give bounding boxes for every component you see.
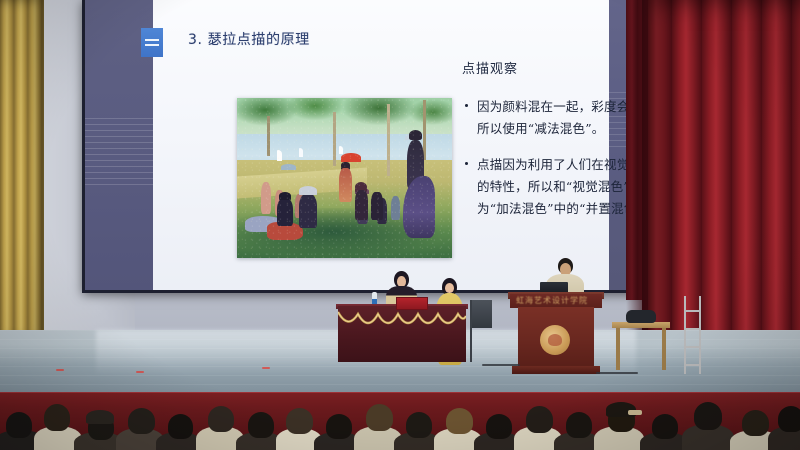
audience-member <box>566 412 592 438</box>
audience-member <box>366 404 393 431</box>
audience-member <box>286 408 313 434</box>
step-ladder <box>684 296 702 374</box>
slide-subtitle: 点描观察 <box>462 58 518 77</box>
cap-brim <box>628 410 642 415</box>
audience-member <box>406 412 432 438</box>
audience-member <box>44 404 70 431</box>
audience-member <box>326 414 352 439</box>
name-placard <box>396 297 428 310</box>
floor-cable <box>596 372 638 374</box>
school-crest-icon <box>540 325 570 355</box>
face <box>445 283 454 293</box>
slide-title: 3. 瑟拉点描的原理 <box>188 29 310 49</box>
audience-member <box>652 414 678 439</box>
bullet-dot-icon <box>465 162 468 165</box>
audience-silhouettes <box>0 396 800 450</box>
lecture-hall-photo: 3. 瑟拉点描的原理 点描观察 <box>0 0 800 450</box>
projection-screen-frame: 3. 瑟拉点描的原理 点描观察 <box>82 0 648 293</box>
audience-member <box>168 414 193 439</box>
floor-cable <box>482 364 520 366</box>
audience-member <box>208 406 234 432</box>
laser-pointer-dot <box>56 369 64 371</box>
bullet-text: 点描因为利用了人们在视觉中产生的特性，所以和“视觉混色”被定位为“加法混色”中的… <box>477 157 645 216</box>
podium-base <box>512 366 600 374</box>
audience-member <box>446 408 473 434</box>
audience-member <box>248 412 274 438</box>
camera-bag <box>626 310 656 323</box>
audience-member <box>742 410 769 436</box>
laser-pointer-dot <box>136 371 144 373</box>
audience-member <box>486 414 512 439</box>
podium-sign-text: 虹海艺术设计学院 <box>516 294 596 308</box>
projection-screen-surface: 3. 瑟拉点描的原理 点描观察 <box>85 0 645 290</box>
bullet-text: 因为颜料混在一起，彩度会变暗，所以使用“减法混色”。 <box>477 99 645 136</box>
list-item: 因为颜料混在一起，彩度会变暗，所以使用“减法混色”。 <box>465 96 645 140</box>
seurat-painting-image <box>237 98 452 258</box>
side-table-leg <box>616 328 620 370</box>
audience-member <box>694 402 722 430</box>
list-item: 点描因为利用了人们在视觉中产生的特性，所以和“视觉混色”被定位为“加法混色”中的… <box>465 154 645 220</box>
audience-member <box>526 406 553 433</box>
cap-icon <box>86 410 114 424</box>
slide-band-left-stripes <box>85 118 153 186</box>
audience-member <box>778 406 800 432</box>
slide-bullet-list: 因为颜料混在一起，彩度会变暗，所以使用“减法混色”。 点描因为利用了人们在视觉中… <box>465 96 645 220</box>
gold-curtain-left <box>0 0 44 340</box>
list-lines-icon <box>141 28 163 57</box>
mic-stand <box>470 300 472 362</box>
bullet-dot-icon <box>465 104 468 107</box>
painting-pointillist-texture <box>237 98 452 258</box>
floor-monitor-speaker <box>472 300 492 328</box>
podium-sign: 虹海艺术设计学院 <box>510 294 602 308</box>
audience-member <box>6 412 32 438</box>
audience-member <box>128 408 155 434</box>
laser-pointer-dot <box>262 367 270 369</box>
side-table-leg <box>662 328 666 370</box>
table-gold-swag-trim <box>338 308 466 338</box>
